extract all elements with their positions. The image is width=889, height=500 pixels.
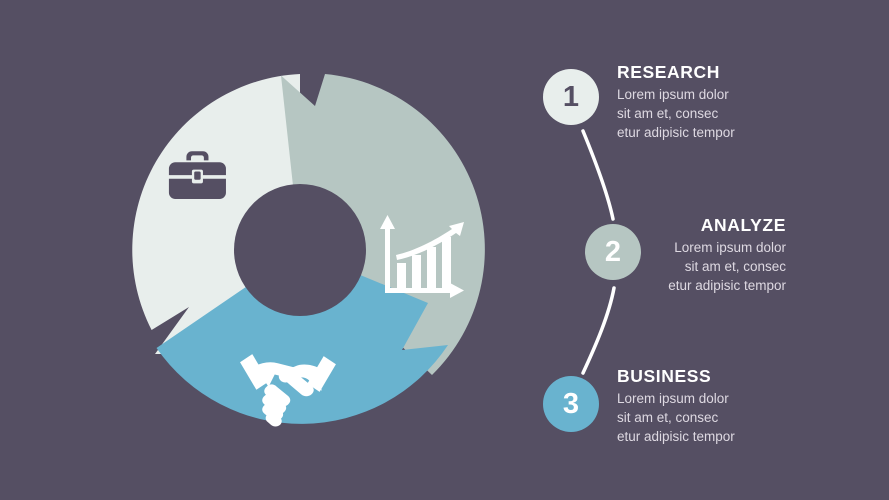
step-number-badge-1[interactable]: 1: [543, 69, 599, 125]
cycle-diagram: [110, 60, 490, 440]
step-text-block-2: ANALYZE Lorem ipsum dolor sit am et, con…: [586, 215, 786, 296]
step-text-block-1: RESEARCH Lorem ipsum dolor sit am et, co…: [617, 62, 817, 143]
infographic-slide: 1 RESEARCH Lorem ipsum dolor sit am et, …: [0, 0, 889, 500]
step-desc-line: sit am et, consec: [617, 104, 817, 123]
step-text-block-3: BUSINESS Lorem ipsum dolor sit am et, co…: [617, 366, 817, 447]
step-desc-line: Lorem ipsum dolor: [586, 238, 786, 257]
step-desc-line: etur adipisic tempor: [617, 123, 817, 142]
steps-legend: 1 RESEARCH Lorem ipsum dolor sit am et, …: [520, 0, 889, 500]
step-description-3: Lorem ipsum dolor sit am et, consec etur…: [617, 389, 817, 446]
step-desc-line: Lorem ipsum dolor: [617, 85, 817, 104]
step-desc-line: sit am et, consec: [586, 257, 786, 276]
step-desc-line: etur adipisic tempor: [617, 427, 817, 446]
step-description-2: Lorem ipsum dolor sit am et, consec etur…: [586, 238, 786, 295]
connector-1-to-2: [583, 131, 613, 219]
connector-2-to-3: [583, 288, 614, 373]
step-title-2: ANALYZE: [586, 215, 786, 235]
step-title-1: RESEARCH: [617, 62, 817, 82]
step-number-badge-3[interactable]: 3: [543, 376, 599, 432]
step-description-1: Lorem ipsum dolor sit am et, consec etur…: [617, 85, 817, 142]
step-desc-line: sit am et, consec: [617, 408, 817, 427]
step-number-3: 3: [563, 390, 579, 419]
step-number-1: 1: [563, 83, 579, 112]
step-title-3: BUSINESS: [617, 366, 817, 386]
step-desc-line: etur adipisic tempor: [586, 276, 786, 295]
step-desc-line: Lorem ipsum dolor: [617, 389, 817, 408]
